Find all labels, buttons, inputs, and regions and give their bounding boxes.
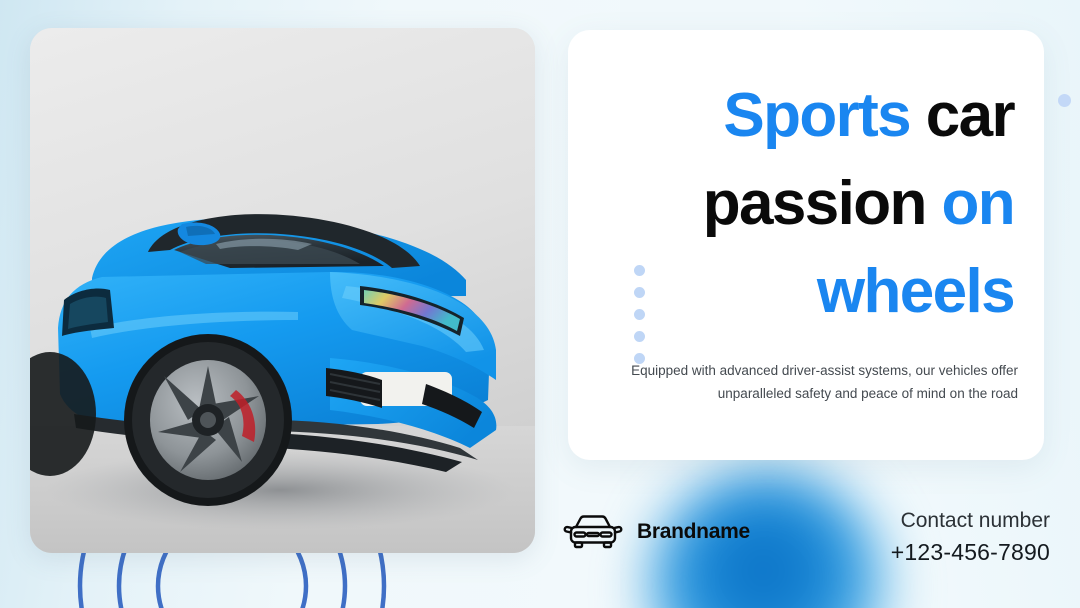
edge-dot-decoration [1058,94,1071,107]
headline-accent-wheels: wheels [817,257,1014,326]
headline-plain-passion: passion [703,169,926,238]
body-copy: Equipped with advanced driver-assist sys… [614,359,1018,405]
headline-line-2: passion on [590,160,1014,248]
car-front-icon [562,512,624,552]
brand-name: Brandname [637,520,750,544]
headline-accent-on: on [926,169,1014,238]
headline-line-3: wheels [590,248,1014,336]
dot-column-decoration [634,265,645,364]
contact-block: Contact number +123-456-7890 [891,506,1050,568]
contact-label: Contact number [891,506,1050,536]
page-title: Sports car passion on wheels [590,72,1014,336]
brand-lockup: Brandname [562,512,750,552]
decor-dot [634,265,645,276]
decor-dot [634,353,645,364]
decor-dot [634,287,645,298]
car-photo-illustration [30,28,535,553]
car-photo-card [30,28,535,553]
promo-banner: Sports car passion on wheels Equipped wi… [0,0,1080,608]
headline-card: Sports car passion on wheels Equipped wi… [568,30,1044,460]
decor-dot [634,331,645,342]
headline-plain-car: car [910,81,1014,150]
contact-number[interactable]: +123-456-7890 [891,536,1050,568]
headline-accent-sports: Sports [723,81,910,150]
headline-line-1: Sports car [590,72,1014,160]
decor-dot [634,309,645,320]
